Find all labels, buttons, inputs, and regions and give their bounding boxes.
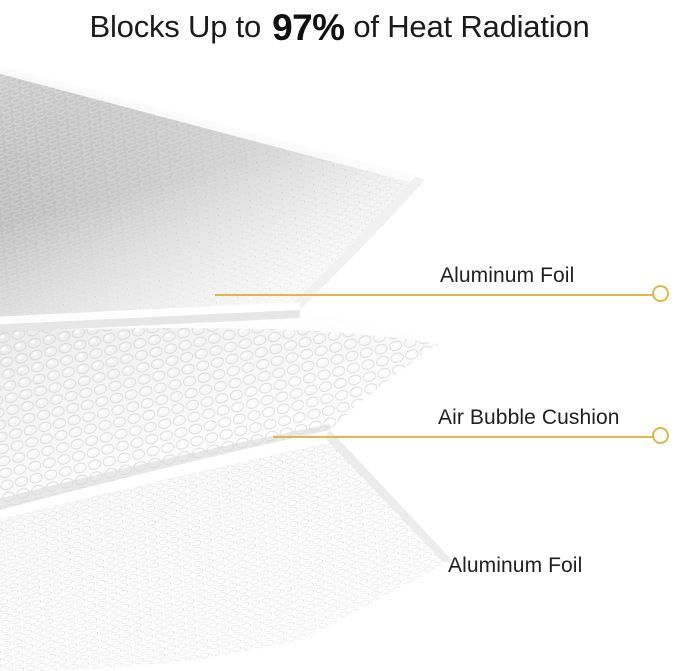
leader-endpoint-circle-icon (652, 427, 669, 444)
callout-label-aluminum-foil-bottom: Aluminum Foil (448, 554, 582, 578)
callout-aluminum-foil-bottom: Aluminum Foil (448, 548, 668, 578)
callout-label-air-bubble-cushion: Air Bubble Cushion (438, 406, 620, 430)
leader-line-air-bubble-cushion (273, 436, 667, 438)
callout-air-bubble-cushion: Air Bubble Cushion (273, 394, 667, 438)
headline-prefix: Blocks Up to (89, 9, 261, 45)
page-title: Blocks Up to 97% of Heat Radiation (0, 2, 679, 52)
headline-suffix: of Heat Radiation (349, 9, 589, 45)
leader-line-aluminum-foil-top (215, 294, 667, 296)
callout-aluminum-foil-top: Aluminum Foil (215, 252, 667, 296)
callout-label-aluminum-foil-top: Aluminum Foil (440, 264, 574, 288)
leader-endpoint-circle-icon (652, 285, 669, 302)
product-infographic: Blocks Up to 97% of Heat Radiation (0, 0, 679, 671)
headline-percent: 97% (261, 7, 349, 49)
